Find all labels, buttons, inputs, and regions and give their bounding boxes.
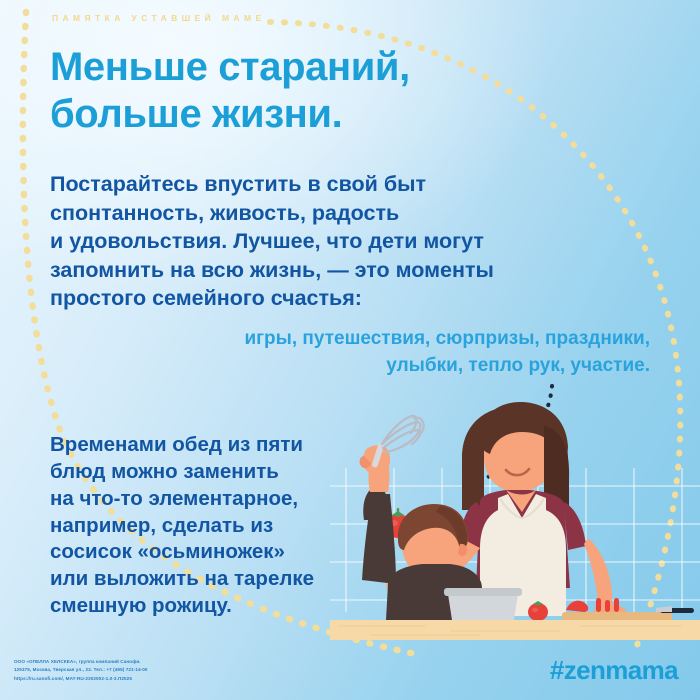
counter-surface bbox=[330, 620, 700, 640]
paragraph-secondary-line: на что-то элементарное, bbox=[50, 486, 390, 513]
paragraph-primary-line: простого семейного счастья: bbox=[50, 284, 630, 313]
paragraph-primary: Постарайтесь впустить в свой быт спонтан… bbox=[50, 170, 630, 313]
highlight-block: игры, путешествия, сюрпризы, праздники, … bbox=[90, 326, 650, 380]
paragraph-secondary-line: смешную рожицу. bbox=[50, 593, 390, 620]
paragraph-secondary: Временами обед из пяти блюд можно замени… bbox=[50, 432, 390, 620]
headline-line-1: Меньше стараний, bbox=[50, 45, 410, 89]
poster-canvas: ПАМЯТКА УСТАВШЕЙ МАМЕ Меньше стараний, б… bbox=[0, 0, 700, 700]
paragraph-primary-line: запомнить на всю жизнь, — это моменты bbox=[50, 256, 630, 285]
paragraph-primary-line: Постарайтесь впустить в свой быт bbox=[50, 170, 630, 199]
paragraph-secondary-line: или выложить на тарелке bbox=[50, 566, 390, 593]
highlight-line: улыбки, тепло рук, участие. bbox=[90, 353, 650, 380]
pot-icon bbox=[444, 588, 522, 620]
highlight-line: игры, путешествия, сюрпризы, праздники, bbox=[90, 326, 650, 353]
legal-line: 125375, Москва, Тверская ул., 22. Тел.: … bbox=[14, 666, 284, 674]
paragraph-secondary-line: блюд можно заменить bbox=[50, 459, 390, 486]
headline-line-2: больше жизни. bbox=[50, 91, 610, 138]
paragraph-primary-line: и удовольствия. Лучшее, что дети могут bbox=[50, 227, 630, 256]
page-title: Меньше стараний, больше жизни. bbox=[50, 44, 610, 138]
legal-line[interactable]: https://ru.sanofi.com/, MAT-RU-2302002-1… bbox=[14, 675, 284, 683]
paragraph-secondary-line: например, сделать из bbox=[50, 513, 390, 540]
paragraph-secondary-line: сосисок «осьминожек» bbox=[50, 539, 390, 566]
paragraph-primary-line: спонтанность, живость, радость bbox=[50, 199, 630, 228]
legal-line: ООО «ОПЕЛЛА ХЕЛСКЕА», группа компаний Са… bbox=[14, 658, 284, 666]
eyebrow-label: ПАМЯТКА УСТАВШЕЙ МАМЕ bbox=[52, 13, 266, 23]
knife-icon bbox=[656, 606, 694, 613]
legal-disclaimer: ООО «ОПЕЛЛА ХЕЛСКЕА», группа компаний Са… bbox=[14, 658, 284, 683]
hashtag-zenmama[interactable]: #zenmama bbox=[550, 655, 678, 686]
paragraph-secondary-line: Временами обед из пяти bbox=[50, 432, 390, 459]
cutting-board-icon bbox=[562, 598, 672, 622]
